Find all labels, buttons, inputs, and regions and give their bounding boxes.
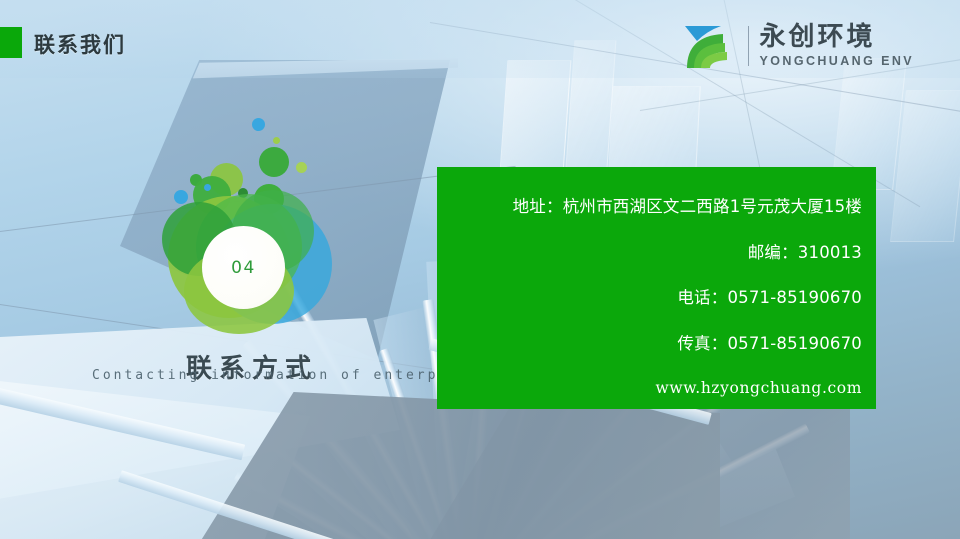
contact-website[interactable]: www.hzyongchuang.com xyxy=(437,381,862,397)
logo-name-en: YONGCHUANG ENV xyxy=(760,54,914,68)
bubble-dot xyxy=(204,184,211,191)
contact-postcode: 邮编：310013 xyxy=(437,245,862,262)
contact-info-box: 地址：杭州市西湖区文二西路1号元茂大厦15楼 邮编：310013 电话：0571… xyxy=(437,167,876,409)
logo-name-cn: 永创环境 xyxy=(760,24,914,51)
yongchuang-leaf-logo-icon xyxy=(681,22,739,70)
page-title: 联系我们 xyxy=(34,29,126,59)
logo-divider xyxy=(748,26,749,66)
company-logo: 永创环境 YONGCHUANG ENV xyxy=(681,20,914,72)
green-bubbles-circle-graphic: 04 xyxy=(160,118,350,333)
bubble-dot xyxy=(273,137,280,144)
contact-address: 地址：杭州市西湖区文二西路1号元茂大厦15楼 xyxy=(437,199,862,216)
section-subtitle: Contacting information of enterprise xyxy=(92,368,482,383)
green-square-icon xyxy=(0,27,22,58)
badge-number-circle: 04 xyxy=(202,226,285,309)
bubble-dot xyxy=(174,190,188,204)
bubble-dot xyxy=(252,118,265,131)
badge-number: 04 xyxy=(231,258,256,278)
contact-fax: 传真：0571-85190670 xyxy=(437,336,862,353)
bubble-dot xyxy=(296,162,307,173)
bubble-dot xyxy=(259,147,289,177)
contact-phone: 电话：0571-85190670 xyxy=(437,290,862,307)
logo-text-block: 永创环境 YONGCHUANG ENV xyxy=(760,24,914,67)
slide-canvas: 联系我们 永创环境 YONGCHUANG ENV xyxy=(0,0,960,539)
